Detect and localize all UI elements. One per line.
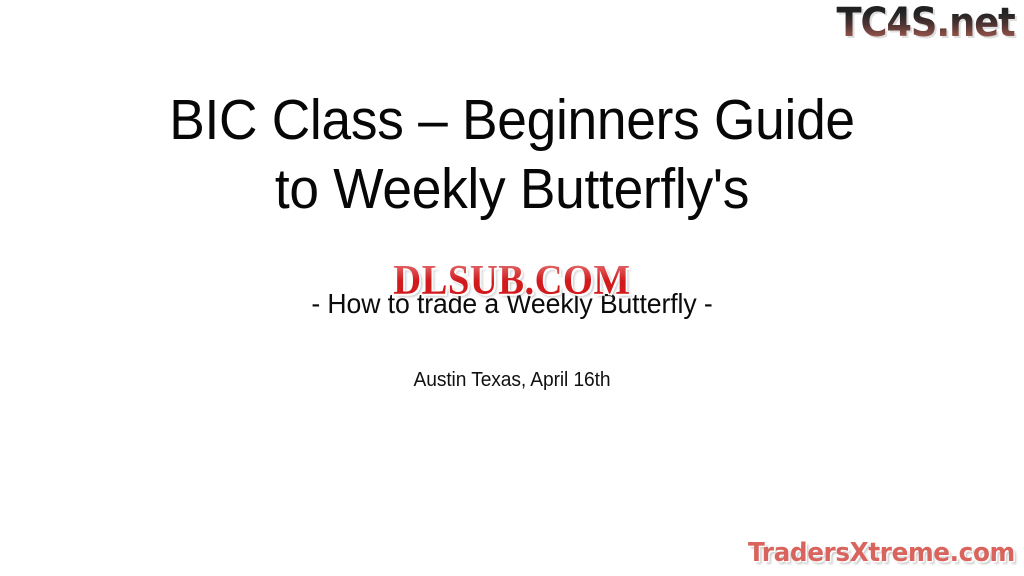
slide-title-line-1: BIC Class – Beginners Guide — [33, 86, 990, 155]
slide-event-line: Austin Texas, April 16th — [20, 368, 1003, 393]
tc4s-logo: TC4S.net — [837, 2, 1015, 44]
presentation-slide: TC4S.net TC4S.net BIC Class – Beginners … — [0, 0, 1024, 576]
slide-title-line-2: to Weekly Butterfly's — [33, 155, 990, 224]
dlsub-watermark-gloss — [373, 266, 649, 281]
slide-subtitle: - How to trade a Weekly Butterfly - — [26, 287, 999, 321]
tradersxtreme-logo: TradersXtreme.com — [748, 538, 1015, 568]
slide-title: BIC Class – Beginners Guide to Weekly Bu… — [0, 86, 1024, 224]
